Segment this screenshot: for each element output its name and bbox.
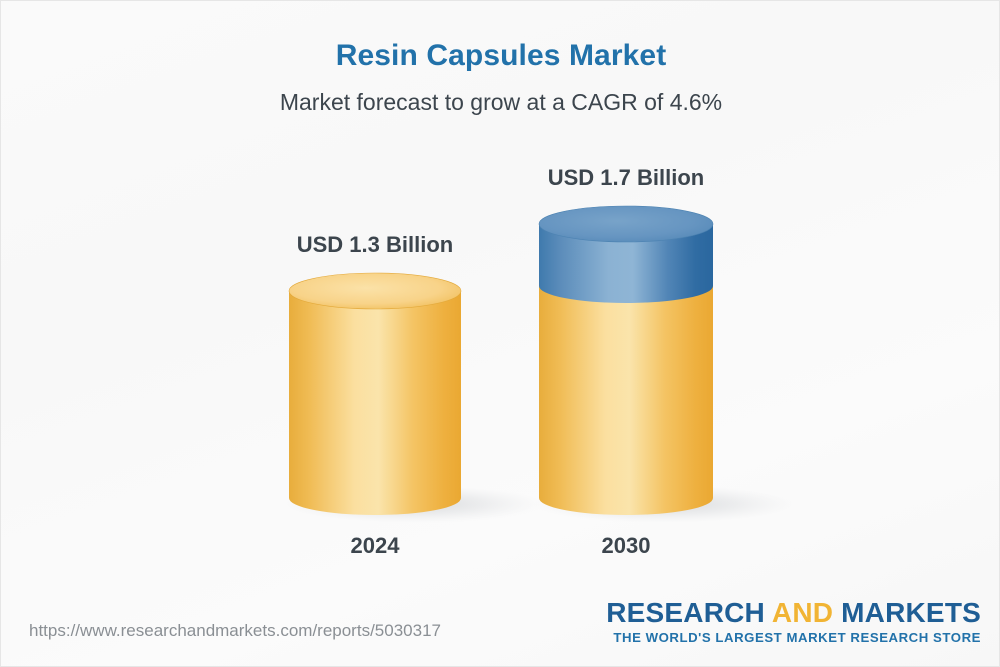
bar-2030[interactable] bbox=[539, 206, 713, 515]
brand-logo[interactable]: RESEARCH AND MARKETS THE WORLD'S LARGEST… bbox=[606, 599, 981, 645]
bar-2024[interactable] bbox=[289, 273, 461, 515]
bar-2024-body bbox=[289, 291, 461, 515]
report-url[interactable]: https://www.researchandmarkets.com/repor… bbox=[29, 621, 441, 641]
bar-value-label-2030: USD 1.7 Billion bbox=[526, 165, 726, 191]
cylinder-bars-svg bbox=[1, 1, 1000, 601]
brand-logo-wordmark: RESEARCH AND MARKETS bbox=[606, 599, 981, 628]
brand-logo-research: RESEARCH bbox=[606, 597, 772, 628]
brand-logo-and: AND bbox=[772, 597, 833, 628]
brand-logo-tagline: THE WORLD'S LARGEST MARKET RESEARCH STOR… bbox=[606, 630, 981, 645]
bar-2030-top-cap bbox=[539, 206, 713, 242]
bar-category-label-2030: 2030 bbox=[576, 533, 676, 559]
chart-card: Resin Capsules Market Market forecast to… bbox=[0, 0, 1000, 667]
chart-plot-area: USD 1.3 Billion USD 1.7 Billion 2024 203… bbox=[1, 1, 1000, 601]
bar-value-label-2024: USD 1.3 Billion bbox=[275, 232, 475, 258]
bar-category-label-2024: 2024 bbox=[325, 533, 425, 559]
brand-logo-markets: MARKETS bbox=[833, 597, 981, 628]
bar-2024-top-cap bbox=[289, 273, 461, 309]
bar-2030-base-segment bbox=[539, 286, 713, 515]
